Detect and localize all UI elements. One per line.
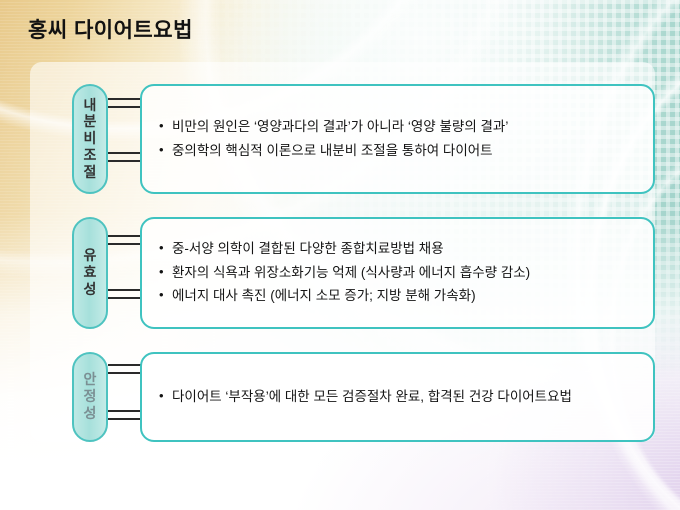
slide-title: 홍씨 다이어트요법 (28, 14, 193, 44)
section-label-char: 안 (84, 372, 97, 388)
section-label-char: 내 (84, 98, 97, 114)
section-row: 유 효 성 중-서양 의학이 결합된 다양한 종합치료방법 채용 환자의 식욕과… (30, 217, 655, 329)
connector-lines (108, 352, 142, 442)
section-label-char: 효 (84, 265, 97, 281)
section-label-pill: 내 분 비 조 절 (72, 84, 108, 194)
connector-line-pair (108, 364, 142, 374)
bullet-item: 에너지 대사 촉진 (에너지 소모 증가; 지방 분해 가속화) (172, 288, 639, 305)
section-content-card: 비만의 원인은 ‘영양과다의 결과’가 아니라 ‘영양 불량의 결과’ 중의학의… (140, 84, 655, 194)
bullet-item: 중-서양 의학이 결합된 다양한 종합치료방법 채용 (172, 241, 639, 258)
connector-lines (108, 84, 142, 194)
connector-line-pair (108, 235, 142, 245)
section-label-pill: 유 효 성 (72, 217, 108, 329)
section-label-pill: 안 정 성 (72, 352, 108, 442)
connector-line-pair (108, 152, 142, 162)
bullet-item: 중의학의 핵심적 이론으로 내분비 조절을 통하여 다이어트 (172, 143, 639, 160)
section-row: 내 분 비 조 절 비만의 원인은 ‘영양과다의 결과’가 아니라 ‘영양 불량… (30, 84, 655, 194)
section-label-char: 분 (84, 114, 97, 130)
section-content-card: 다이어트 ‘부작용’에 대한 모든 검증절차 완료, 합격된 건강 다이어트요법 (140, 352, 655, 442)
content-panel: 내 분 비 조 절 비만의 원인은 ‘영양과다의 결과’가 아니라 ‘영양 불량… (30, 62, 655, 442)
section-label-char: 절 (84, 165, 97, 181)
section-row: 안 정 성 다이어트 ‘부작용’에 대한 모든 검증절차 완료, 합격된 건강 … (30, 352, 655, 442)
section-label-char: 성 (84, 406, 97, 422)
section-label-char: 정 (84, 389, 97, 405)
section-label-char: 성 (84, 282, 97, 298)
connector-lines (108, 217, 142, 329)
connector-line-pair (108, 98, 142, 108)
section-label-char: 조 (84, 148, 97, 164)
slide-canvas: 홍씨 다이어트요법 내 분 비 조 절 비만의 원인은 ‘영양과다의 결과’가 … (0, 0, 680, 510)
connector-line-pair (108, 410, 142, 420)
bullet-item: 다이어트 ‘부작용’에 대한 모든 검증절차 완료, 합격된 건강 다이어트요법 (172, 389, 639, 406)
bullet-item: 비만의 원인은 ‘영양과다의 결과’가 아니라 ‘영양 불량의 결과’ (172, 119, 639, 136)
section-content-card: 중-서양 의학이 결합된 다양한 종합치료방법 채용 환자의 식욕과 위장소화기… (140, 217, 655, 329)
section-label-char: 비 (84, 131, 97, 147)
bullet-item: 환자의 식욕과 위장소화기능 억제 (식사량과 에너지 흡수량 감소) (172, 265, 639, 282)
section-label-char: 유 (84, 248, 97, 264)
connector-line-pair (108, 289, 142, 299)
